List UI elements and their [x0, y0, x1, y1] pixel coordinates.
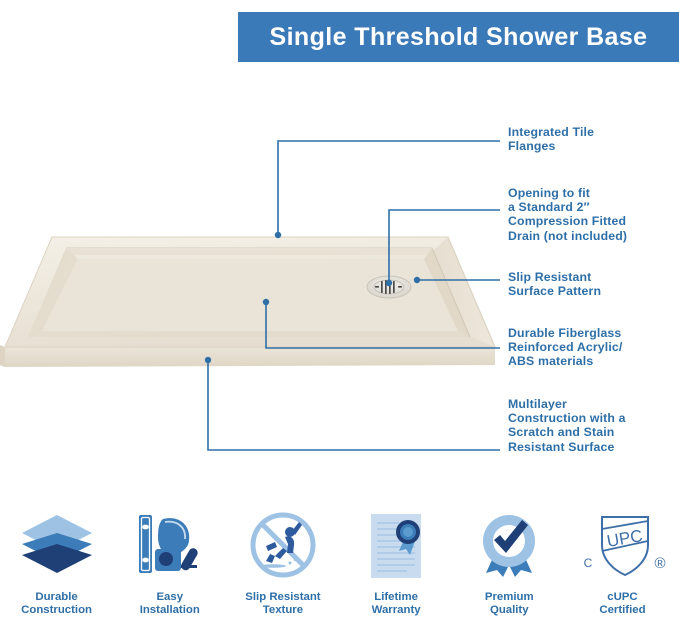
feature-caption: Lifetime Warranty: [372, 591, 421, 618]
upc-shield-icon: UPC C ®: [576, 505, 668, 587]
upc-shield-left-mark: C: [584, 556, 593, 570]
shower-base-illustration: [0, 215, 500, 395]
feature-premium-quality: Premium Quality: [453, 505, 566, 618]
certificate-icon: [357, 505, 435, 587]
layered-diamonds-icon: [18, 505, 96, 587]
feature-easy-installation: Easy Installation: [113, 505, 226, 618]
callout-drain-opening: Opening to fit a Standard 2″ Compression…: [508, 186, 627, 243]
base-left-face: [0, 345, 5, 367]
check-rosette-icon: [470, 505, 548, 587]
back-flange-band: [66, 248, 432, 255]
feature-icon-strip: Durable Construction: [0, 505, 679, 637]
feature-lifetime-warranty: Lifetime Warranty: [340, 505, 453, 618]
feature-slip-resistant-texture: Slip Resistant Texture: [226, 505, 339, 618]
feature-caption: Easy Installation: [140, 591, 200, 618]
page-title: Single Threshold Shower Base: [270, 23, 648, 52]
page-title-banner: Single Threshold Shower Base: [238, 12, 679, 62]
base-front-face: [5, 347, 495, 367]
feature-caption: cUPC Certified: [599, 591, 645, 618]
trowel-level-icon: [131, 505, 209, 587]
feature-durable-construction: Durable Construction: [0, 505, 113, 618]
infographic-page: Single Threshold Shower Base: [0, 0, 679, 637]
feature-cupc-certified: UPC C ® cUPC Certified: [566, 505, 679, 618]
feature-caption: Slip Resistant Texture: [245, 591, 320, 618]
callout-multilayer-construction: Multilayer Construction with a Scratch a…: [508, 397, 626, 454]
upc-shield-right-mark: ®: [655, 555, 666, 572]
callout-slip-resistant-surface: Slip Resistant Surface Pattern: [508, 270, 601, 298]
no-slip-icon: [244, 505, 322, 587]
feature-caption: Premium Quality: [485, 591, 534, 618]
callout-integrated-tile-flanges: Integrated Tile Flanges: [508, 125, 594, 153]
callout-durable-fiberglass: Durable Fiberglass Reinforced Acrylic/ A…: [508, 326, 622, 369]
feature-caption: Durable Construction: [21, 591, 92, 618]
